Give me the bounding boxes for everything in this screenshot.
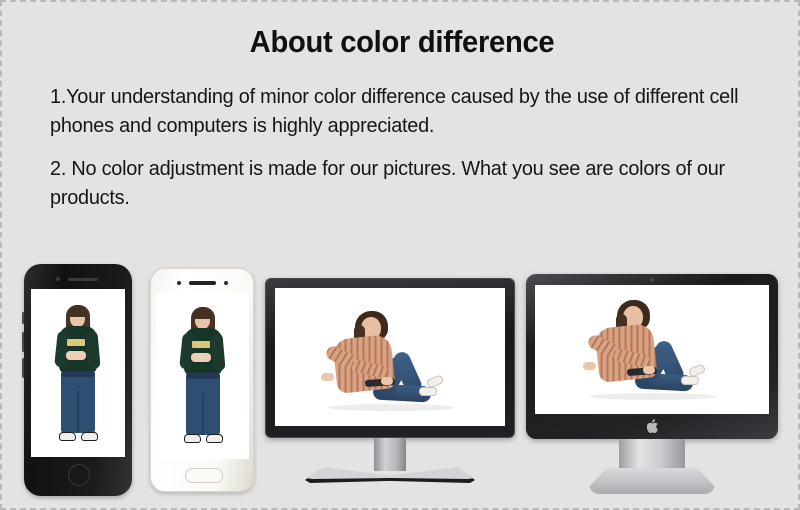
monitor-pc-screen: [275, 288, 505, 426]
sweatshirt-graphic: [192, 341, 210, 348]
hair-top: [68, 305, 87, 317]
phone-black-screen: [31, 289, 125, 457]
hair-top: [193, 307, 212, 319]
device-phone-white: [150, 268, 254, 492]
monitor-pc-base: [302, 462, 478, 484]
jeans: [61, 371, 95, 433]
earpiece-speaker-icon: [189, 281, 216, 285]
photo-standing-woman: [49, 305, 107, 455]
right-sandal: [426, 374, 444, 388]
left-hand: [583, 362, 596, 370]
phone-volume-down-button: [22, 358, 24, 378]
floor-shadow: [327, 404, 455, 411]
right-sneaker: [206, 434, 223, 443]
right-sneaker: [81, 432, 98, 441]
photo-seated-woman: [315, 311, 465, 407]
front-camera-icon: [177, 281, 181, 285]
photo-standing-woman: [174, 307, 232, 457]
left-sandal: [419, 387, 437, 396]
monitor-apple-base: [589, 468, 715, 494]
sweatshirt-graphic: [67, 339, 85, 346]
waistband: [61, 371, 95, 377]
left-sandal: [681, 376, 699, 385]
right-arm: [85, 331, 100, 370]
phone-volume-up-button: [22, 332, 24, 352]
left-sneaker: [59, 432, 76, 441]
device-monitor-pc: [265, 278, 515, 438]
device-monitor-apple: [526, 274, 778, 439]
left-hand: [321, 373, 334, 381]
right-sandal: [688, 363, 706, 377]
photo-seated-woman: [577, 300, 727, 396]
facetime-camera-icon: [650, 278, 654, 282]
home-button[interactable]: [185, 468, 223, 483]
home-button[interactable]: [68, 464, 90, 486]
monitor-pc-base-shape: [302, 462, 478, 484]
left-sneaker: [184, 434, 201, 443]
apple-logo-svg: [647, 419, 659, 433]
device-showcase: [2, 2, 800, 510]
hands: [191, 353, 211, 362]
device-phone-black: [24, 264, 132, 496]
earpiece-speaker-icon: [68, 278, 98, 281]
proximity-sensor-icon: [224, 281, 228, 285]
phone-white-screen: [156, 293, 249, 459]
right-hand: [381, 377, 393, 385]
hands: [66, 351, 86, 360]
right-hand: [643, 366, 655, 374]
jeans: [186, 373, 220, 435]
floor-shadow: [589, 393, 717, 400]
monitor-apple-neck: [619, 439, 685, 471]
color-difference-notice: About color difference 1.Your understand…: [0, 0, 800, 510]
front-camera-icon: [56, 277, 60, 281]
apple-logo-icon: [646, 419, 659, 433]
monitor-apple-screen: [535, 285, 769, 414]
phone-mute-switch-icon: [22, 312, 24, 324]
waistband: [186, 373, 220, 379]
